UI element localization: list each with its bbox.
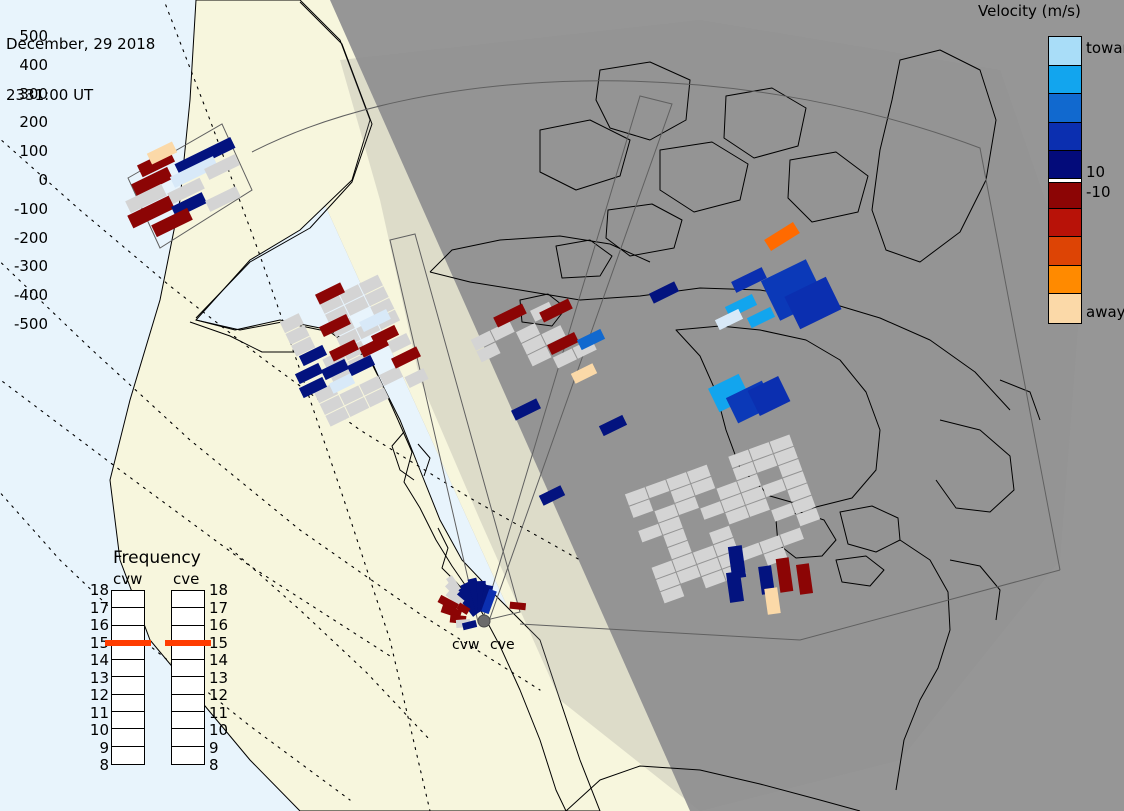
frequency-marker-cve	[165, 640, 211, 646]
frequency-cell	[112, 695, 144, 712]
colorbar-segment-0	[1049, 37, 1081, 66]
frequency-tick-left-9: 9	[89, 739, 109, 757]
frequency-cell	[112, 712, 144, 729]
frequency-cell	[112, 677, 144, 694]
frequency-tick-right-18: 18	[209, 581, 228, 599]
frequency-tick-left-13: 13	[89, 669, 109, 687]
frequency-bar-cvw[interactable]	[111, 590, 145, 765]
colorbar-tick-300: 300	[19, 85, 48, 103]
frequency-cell	[172, 712, 204, 729]
colorbar-tick--300: -300	[14, 257, 48, 275]
frequency-tick-right-16: 16	[209, 616, 228, 634]
colorbar-segment-9	[1049, 294, 1081, 323]
colorbar-tick-0: 0	[38, 171, 48, 189]
colorbar-tick-500: 500	[19, 27, 48, 45]
colorbar-tick-100: 100	[19, 142, 48, 160]
radar-site-marker[interactable]	[478, 615, 490, 627]
frequency-tick-left-8: 8	[89, 756, 109, 774]
colorbar-tick--200: -200	[14, 229, 48, 247]
frequency-cell	[172, 677, 204, 694]
colorbar-inner-negative-label: -10	[1086, 183, 1111, 201]
frequency-tick-left-12: 12	[89, 686, 109, 704]
frequency-marker-cvw	[105, 640, 151, 646]
frequency-tick-right-14: 14	[209, 651, 228, 669]
colorbar-segment-4	[1049, 151, 1081, 180]
colorbar-zero-gap	[1049, 178, 1081, 183]
frequency-cell	[172, 608, 204, 625]
frequency-tick-right-15: 15	[209, 634, 228, 652]
frequency-cell	[172, 660, 204, 677]
frequency-tick-right-12: 12	[209, 686, 228, 704]
frequency-cell	[112, 660, 144, 677]
colorbar-segment-2	[1049, 94, 1081, 123]
colorbar-away-label: away	[1086, 303, 1124, 321]
frequency-panel: Frequency cvw cve 1818171716161515141413…	[95, 548, 245, 788]
frequency-tick-left-14: 14	[89, 651, 109, 669]
colorbar-segment-7	[1049, 237, 1081, 266]
frequency-tick-left-11: 11	[89, 704, 109, 722]
frequency-cell	[112, 747, 144, 764]
frequency-tick-right-11: 11	[209, 704, 228, 722]
frequency-cell	[172, 729, 204, 746]
colorbar-segment-8	[1049, 266, 1081, 295]
colorbar-tick-200: 200	[19, 113, 48, 131]
frequency-tick-left-16: 16	[89, 616, 109, 634]
colorbar-tick-400: 400	[19, 56, 48, 74]
frequency-tick-right-17: 17	[209, 599, 228, 617]
frequency-cell	[172, 695, 204, 712]
colorbar-segment-1	[1049, 66, 1081, 95]
colorbar-toward-label: toward	[1086, 39, 1124, 57]
velocity-colorbar[interactable]	[1048, 36, 1082, 324]
colorbar-tick--100: -100	[14, 200, 48, 218]
colorbar-tick--500: -500	[14, 315, 48, 333]
frequency-tick-left-17: 17	[89, 599, 109, 617]
colorbar-tick--400: -400	[14, 286, 48, 304]
colorbar-title: Velocity (m/s)	[978, 2, 1081, 20]
frequency-column-label-cvw: cvw	[113, 570, 142, 588]
colorbar-inner-positive-label: 10	[1086, 163, 1105, 181]
frequency-cell	[112, 608, 144, 625]
frequency-cell	[172, 591, 204, 608]
radar-site-label-cve: cve	[490, 637, 515, 653]
frequency-tick-right-9: 9	[209, 739, 219, 757]
colorbar-segment-6	[1049, 209, 1081, 238]
frequency-tick-right-8: 8	[209, 756, 219, 774]
frequency-tick-left-10: 10	[89, 721, 109, 739]
frequency-tick-right-10: 10	[209, 721, 228, 739]
frequency-cell	[172, 747, 204, 764]
frequency-column-label-cve: cve	[173, 570, 199, 588]
colorbar-segment-3	[1049, 123, 1081, 152]
radar-map-figure: December, 29 2018 2331:00 UT Velocity (m…	[0, 0, 1124, 811]
frequency-title: Frequency	[113, 548, 201, 568]
frequency-tick-left-18: 18	[89, 581, 109, 599]
frequency-cell	[112, 591, 144, 608]
frequency-bar-cve[interactable]	[171, 590, 205, 765]
radar-site-label-cvw: cvw	[452, 637, 479, 653]
frequency-tick-right-13: 13	[209, 669, 228, 687]
colorbar-segment-5	[1049, 180, 1081, 209]
frequency-cell	[112, 729, 144, 746]
